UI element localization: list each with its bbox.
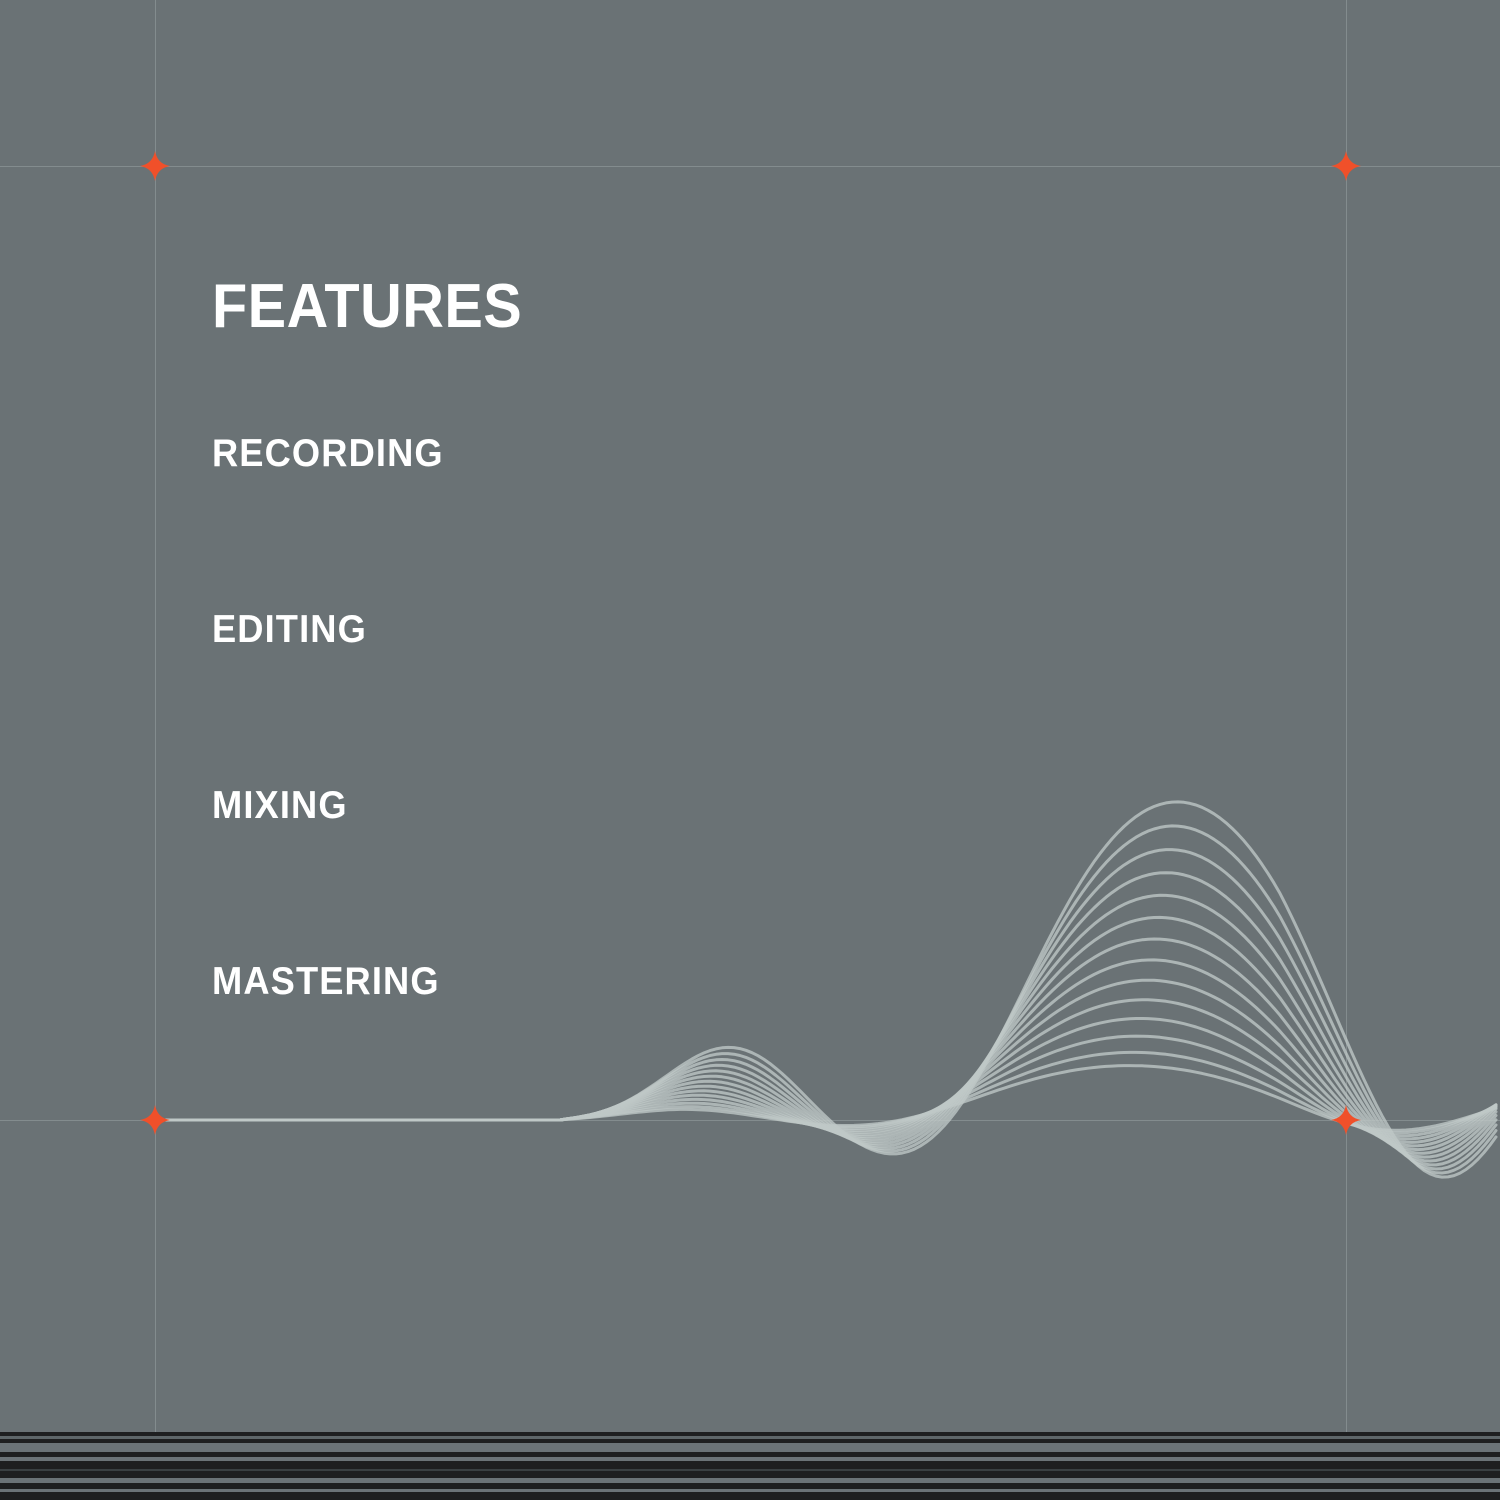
feature-list: RECORDING EDITING MIXING MASTERING	[212, 434, 546, 1001]
crosshair-marker-bottom-left	[138, 1103, 172, 1137]
poster-canvas: FEATURES RECORDING EDITING MIXING MASTER…	[0, 0, 1500, 1500]
waveform-line-1	[155, 1052, 1496, 1132]
feature-item-mixing[interactable]: MIXING	[212, 786, 522, 825]
gridline-vertical-1	[1346, 0, 1347, 1432]
strip-band-12	[0, 1492, 1500, 1500]
bottom-film-strip	[0, 1432, 1500, 1500]
feature-text-block: FEATURES RECORDING EDITING MIXING MASTER…	[212, 276, 546, 1001]
waveform-line-4	[155, 1000, 1496, 1143]
gridline-horizontal-1	[0, 1120, 1500, 1121]
gridline-horizontal-0	[0, 166, 1500, 167]
feature-item-recording[interactable]: RECORDING	[212, 434, 522, 473]
waveform-line-2	[155, 1036, 1496, 1136]
crosshair-marker-top-right	[1329, 149, 1363, 183]
waveform-line-3	[155, 1019, 1496, 1140]
strip-band-6	[0, 1461, 1500, 1469]
waveform-line-5	[155, 980, 1496, 1146]
gridline-vertical-0	[155, 0, 156, 1432]
feature-item-mastering[interactable]: MASTERING	[212, 962, 522, 1001]
strip-band-8	[0, 1471, 1500, 1478]
crosshair-marker-top-left	[138, 149, 172, 183]
strip-band-3	[0, 1443, 1500, 1452]
feature-item-editing[interactable]: EDITING	[212, 610, 522, 649]
waveform-line-0	[155, 1066, 1496, 1131]
page-title: FEATURES	[212, 276, 522, 338]
crosshair-marker-bottom-right	[1329, 1103, 1363, 1137]
